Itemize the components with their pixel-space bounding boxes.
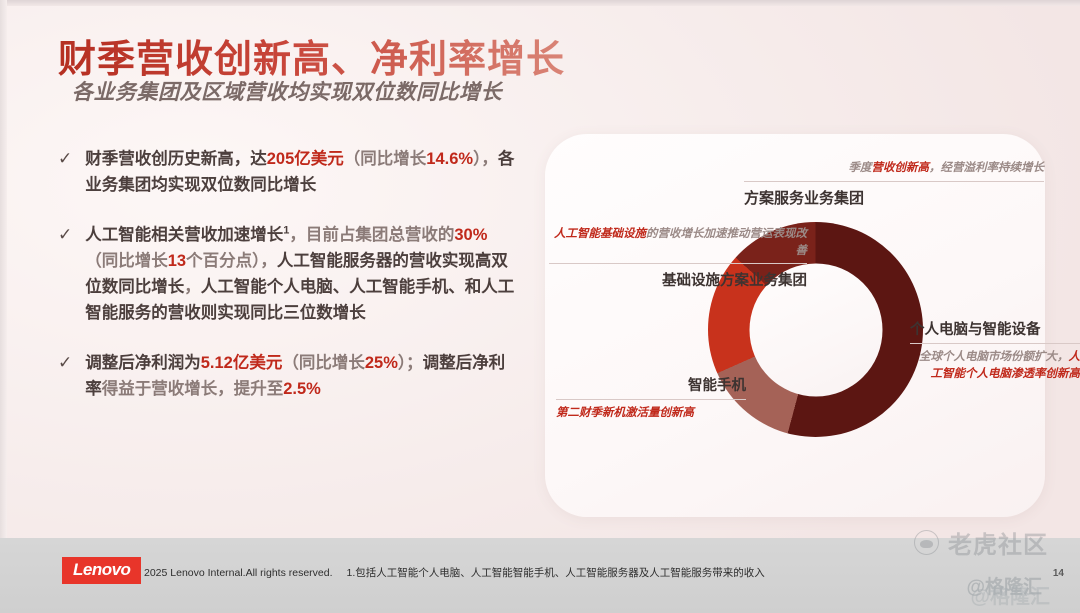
tiger-icon xyxy=(914,530,939,555)
chart-annotation-pc-smart-devices: 个人电脑与智能设备 全球个人电脑市场份额扩大，人工智能个人电脑渗透率创新高 xyxy=(910,318,1080,382)
slide-left-edge xyxy=(0,0,7,613)
page-title: 财季营收创新高、净利率增长 xyxy=(58,28,565,83)
footnote-text: 1.包括人工智能个人电脑、人工智能智能手机、人工智能服务器及人工智能服务带来的收… xyxy=(347,567,765,579)
annotation-group-label: 个人电脑与智能设备 xyxy=(910,318,1080,339)
copyright-text: 2025 Lenovo Internal.All rights reserved… xyxy=(144,567,333,579)
chart-annotation-solutions-services: 季度营收创新高，经营溢利率持续增长 方案服务业务集团 xyxy=(744,160,1044,208)
watermark-community: 老虎社区 xyxy=(914,525,1048,560)
annotation-group-label: 智能手机 xyxy=(556,374,746,395)
bullet-text: 财季营收创历史新高，达205亿美元（同比增长14.6%），各业务集团均实现双位数… xyxy=(85,146,518,198)
annotation-divider xyxy=(744,181,1044,182)
list-item: ✓ 人工智能相关营收加速增长1，目前占集团总营收的30%（同比增长13个百分点）… xyxy=(58,222,518,326)
list-item: ✓ 财季营收创历史新高，达205亿美元（同比增长14.6%），各业务集团均实现双… xyxy=(58,146,518,198)
annotation-divider xyxy=(556,399,746,400)
lenovo-logo: Lenovo xyxy=(62,557,141,584)
annotation-note: 第二财季新机激活量创新高 xyxy=(556,405,746,422)
annotation-note: 人工智能基础设施的营收增长加速推动营运表现改善 xyxy=(549,226,807,259)
list-item: ✓ 调整后净利润为5.12亿美元（同比增长25%）；调整后净利率得益于营收增长，… xyxy=(58,350,518,402)
page-number: 14 xyxy=(1053,568,1064,579)
page-subtitle: 各业务集团及区域营收均实现双位数同比增长 xyxy=(72,76,502,106)
check-icon: ✓ xyxy=(58,350,72,402)
footer-text: 2025 Lenovo Internal.All rights reserved… xyxy=(144,565,765,580)
annotation-note: 季度营收创新高，经营溢利率持续增长 xyxy=(744,160,1044,177)
check-icon: ✓ xyxy=(58,222,72,326)
bullet-text: 调整后净利润为5.12亿美元（同比增长25%）；调整后净利率得益于营收增长，提升… xyxy=(85,350,518,402)
annotation-divider xyxy=(549,263,807,264)
bullet-list: ✓ 财季营收创历史新高，达205亿美元（同比增长14.6%），各业务集团均实现双… xyxy=(58,146,518,427)
check-icon: ✓ xyxy=(58,146,72,198)
annotation-group-label: 基础设施方案业务集团 xyxy=(549,269,807,290)
watermark-community-label: 老虎社区 xyxy=(948,525,1048,560)
slide-canvas: 财季营收创新高、净利率增长 各业务集团及区域营收均实现双位数同比增长 ✓ 财季营… xyxy=(0,0,1080,613)
slide-top-edge xyxy=(0,0,1080,6)
annotation-note: 全球个人电脑市场份额扩大，人工智能个人电脑渗透率创新高 xyxy=(910,349,1080,382)
chart-annotation-smartphones: 智能手机 第二财季新机激活量创新高 xyxy=(556,374,746,422)
annotation-divider xyxy=(910,343,1080,344)
bullet-text: 人工智能相关营收加速增长1，目前占集团总营收的30%（同比增长13个百分点），人… xyxy=(85,222,518,326)
annotation-group-label: 方案服务业务集团 xyxy=(744,187,1044,208)
chart-annotation-infrastructure: 人工智能基础设施的营收增长加速推动营运表现改善 基础设施方案业务集团 xyxy=(549,226,807,290)
watermark-handle-shadow: @格隆汇 xyxy=(970,580,1050,609)
